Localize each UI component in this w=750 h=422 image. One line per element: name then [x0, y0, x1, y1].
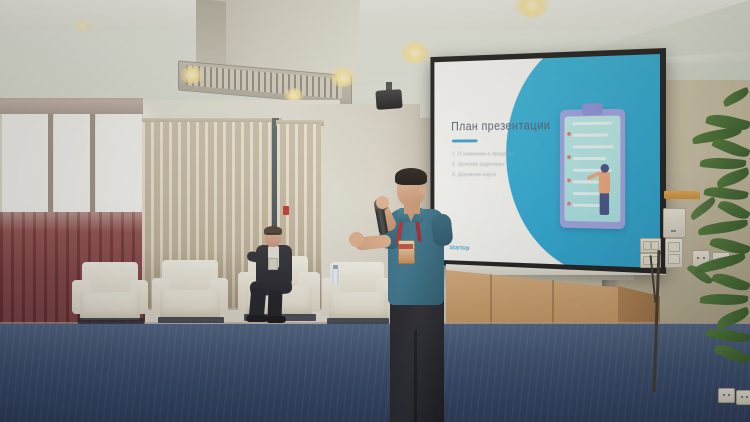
window-header: [0, 100, 143, 114]
speaker-hand-left: [376, 196, 389, 209]
projection-screen[interactable]: План презентации 1. О компании и продукт…: [434, 54, 660, 268]
downlight-icon: [74, 20, 92, 33]
carpet-pattern: [0, 324, 750, 422]
speaker-pants-seam: [414, 330, 417, 422]
ceiling-slab: [0, 0, 750, 30]
badge-strip: [398, 244, 413, 249]
armchair[interactable]: [72, 262, 148, 326]
switch-button[interactable]: [668, 242, 680, 252]
clipboard-illustration: [556, 101, 629, 232]
amber-wall-sign: [664, 191, 700, 200]
presentation-slide: План презентации 1. О компании и продукт…: [434, 54, 660, 268]
switch-button[interactable]: [643, 241, 651, 250]
checkmark-icon: [567, 178, 571, 182]
fire-alarm-icon: [283, 206, 289, 215]
thermostat[interactable]: [663, 208, 686, 238]
power-outlet[interactable]: [736, 390, 750, 405]
slide-bullet-item: 3. Дорожная карта: [452, 170, 566, 181]
switch-button[interactable]: [651, 241, 659, 250]
checklist-line: [573, 145, 614, 148]
armchair-base: [327, 318, 389, 324]
checklist-line: [573, 157, 607, 159]
thermostat-display: [671, 230, 676, 232]
person-legs: [600, 191, 609, 215]
downlight-icon: [400, 42, 430, 64]
slide-bullet-item: 2. Целевая аудитория: [452, 160, 566, 171]
speaker-ear: [419, 186, 426, 195]
power-outlet[interactable]: [718, 388, 735, 403]
armchair-seat: [329, 292, 387, 320]
slide-logo: StartUp: [449, 245, 469, 251]
speaker-pants: [390, 298, 444, 422]
armchair-base: [78, 318, 144, 324]
water-bottle[interactable]: [332, 268, 339, 286]
bottle-cap: [333, 265, 338, 269]
speaker-sleeve-right: [430, 213, 453, 247]
checkmark-icon: [567, 155, 571, 159]
glasses-icon: [266, 233, 280, 237]
armchair-seat: [160, 290, 220, 318]
attendee-badge: [268, 258, 278, 270]
speaker-hair: [395, 168, 427, 185]
armchair[interactable]: [152, 260, 228, 326]
conference-room-photo: План презентации 1. О компании и продукт…: [0, 0, 750, 422]
checkmark-icon: [567, 202, 571, 206]
slide-bullet-list: 1. О компании и продукте 2. Целевая ауди…: [452, 149, 566, 181]
slide-title-rule: [452, 139, 478, 142]
checkmark-icon: [567, 132, 571, 136]
armchair-seat: [80, 292, 140, 320]
slide-title: План презентации: [451, 119, 550, 133]
attendee-shoe: [246, 315, 268, 322]
ceiling-beam-face: [196, 0, 226, 68]
projector-icon: [375, 89, 402, 110]
person-head: [601, 164, 609, 173]
checklist-line: [573, 133, 608, 136]
checklist-line: [573, 122, 612, 125]
switch-button[interactable]: [668, 254, 680, 264]
downlight-icon: [180, 66, 204, 84]
armchair-base: [158, 317, 224, 323]
clipboard-clip-icon: [582, 103, 603, 115]
checklist-line: [573, 204, 601, 207]
attendee-shoe: [266, 316, 286, 323]
downlight-icon: [330, 68, 356, 87]
slide-bullet-item: 1. О компании и продукте: [452, 149, 566, 160]
person-body: [599, 172, 610, 194]
speaker-hand-right: [349, 232, 364, 247]
